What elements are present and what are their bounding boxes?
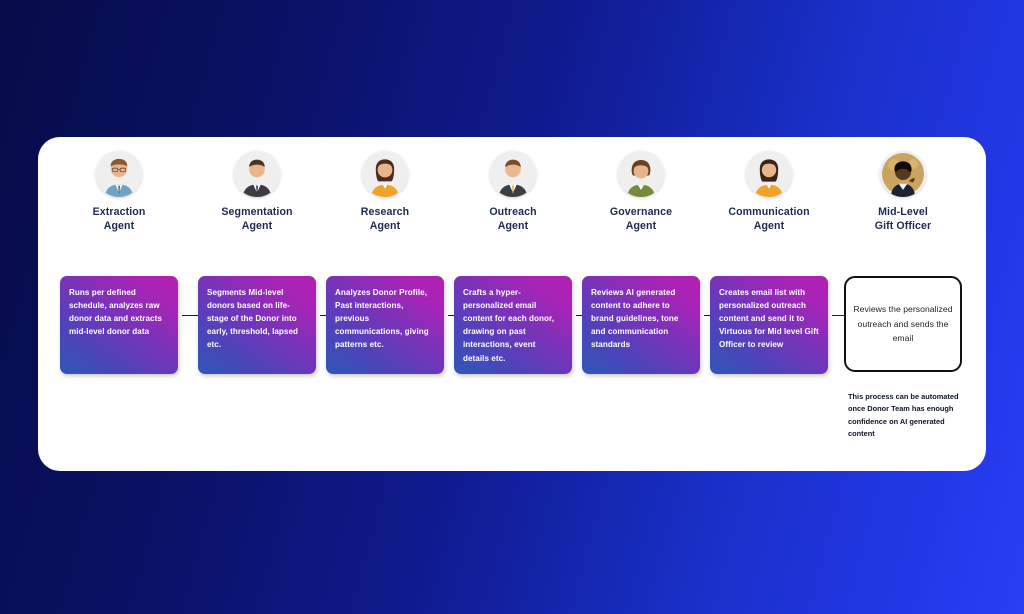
- node-label: Research Agent: [322, 206, 448, 234]
- node-label: Outreach Agent: [450, 206, 576, 234]
- node-label-line2: Agent: [322, 220, 448, 234]
- node-label: Communication Agent: [706, 206, 832, 234]
- node-label-line1: Mid-Level: [840, 206, 966, 220]
- node-label-line1: Governance: [578, 206, 704, 220]
- node-label: Governance Agent: [578, 206, 704, 234]
- node-label: Extraction Agent: [56, 206, 182, 234]
- avatar-man-glasses-suit-icon: [96, 151, 142, 197]
- node-description-card: Runs per defined schedule, analyzes raw …: [60, 276, 178, 374]
- avatar-wrap: [322, 151, 448, 197]
- node-description-card: Analyzes Donor Profile, Past interaction…: [326, 276, 444, 374]
- node-description-card: Crafts a hyper-personalized email conten…: [454, 276, 572, 374]
- node-label-line2: Agent: [706, 220, 832, 234]
- flow-node-extraction-agent[interactable]: Extraction Agent Runs per defined schedu…: [56, 151, 182, 234]
- flow-node-governance-agent[interactable]: Governance Agent Reviews AI generated co…: [578, 151, 704, 234]
- agent-flow-track: Extraction Agent Runs per defined schedu…: [56, 137, 968, 471]
- node-label: Segmentation Agent: [194, 206, 320, 234]
- avatar-wrap: [194, 151, 320, 197]
- node-label-line2: Agent: [194, 220, 320, 234]
- avatar-person-green-shirt-icon: [618, 151, 664, 197]
- avatar-wrap: [56, 151, 182, 197]
- node-label-line2: Gift Officer: [840, 220, 966, 234]
- avatar-wrap: [706, 151, 832, 197]
- node-label-line2: Agent: [56, 220, 182, 234]
- flow-node-research-agent[interactable]: Research Agent Analyzes Donor Profile, P…: [322, 151, 448, 234]
- flow-node-segmentation-agent[interactable]: Segmentation Agent Segments Mid-level do…: [194, 151, 320, 234]
- node-label-line2: Agent: [578, 220, 704, 234]
- avatar-wrap: [450, 151, 576, 197]
- avatar-photo-person-icon: [880, 151, 926, 197]
- flow-node-mid-level-gift-officer[interactable]: Mid-Level Gift Officer Reviews the perso…: [840, 151, 966, 234]
- avatar-wrap: [578, 151, 704, 197]
- node-description-card: Segments Mid-level donors based on life-…: [198, 276, 316, 374]
- flow-node-communication-agent[interactable]: Communication Agent Creates email list w…: [706, 151, 832, 234]
- avatar-man-tie-icon: [490, 151, 536, 197]
- automation-footnote: This process can be automated once Donor…: [848, 391, 960, 440]
- node-label-line1: Segmentation: [194, 206, 320, 220]
- node-description-card: Creates email list with personalized out…: [710, 276, 828, 374]
- flow-node-outreach-agent[interactable]: Outreach Agent Crafts a hyper-personaliz…: [450, 151, 576, 234]
- node-label-line2: Agent: [450, 220, 576, 234]
- avatar-wrap: [840, 151, 966, 197]
- avatar-woman-orange-top-icon: [362, 151, 408, 197]
- node-label-line1: Outreach: [450, 206, 576, 220]
- diagram-panel: Extraction Agent Runs per defined schedu…: [38, 137, 986, 471]
- node-description-card: Reviews AI generated content to adhere t…: [582, 276, 700, 374]
- human-review-box: Reviews the personalized outreach and se…: [844, 276, 962, 372]
- node-label: Mid-Level Gift Officer: [840, 206, 966, 234]
- avatar-woman-dark-hair-icon: [746, 151, 792, 197]
- avatar-man-dark-suit-icon: [234, 151, 280, 197]
- node-label-line1: Communication: [706, 206, 832, 220]
- node-label-line1: Extraction: [56, 206, 182, 220]
- node-label-line1: Research: [322, 206, 448, 220]
